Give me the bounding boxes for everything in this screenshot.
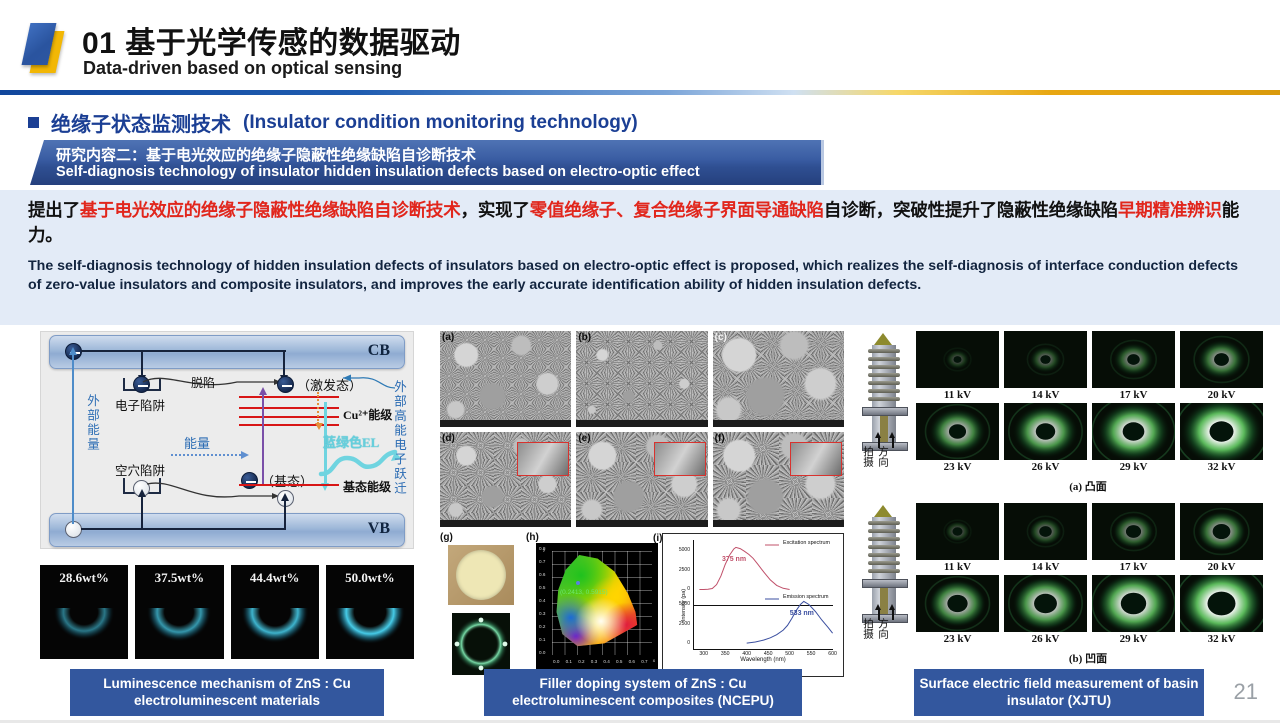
- hole-trap-curve-icon: [143, 472, 293, 504]
- spectrum-x-tick: 300: [699, 651, 708, 657]
- conduction-band-bar: CB: [49, 335, 405, 369]
- kv-voltage-label: 26 kV: [1004, 460, 1087, 475]
- kv-voltage-label: 11 kV: [916, 388, 999, 403]
- kv-voltage-label: 26 kV: [1004, 632, 1087, 647]
- ring-glow-icon: [1004, 331, 1087, 388]
- wt-sample-cell: 37.5wt%: [135, 565, 223, 659]
- banner-line-en: Self-diagnosis technology of insulator h…: [56, 164, 700, 180]
- spectrum-peak-label: 533 nm: [790, 610, 814, 617]
- spectrum-y-tick: 2500: [668, 621, 690, 627]
- wt-glow-arc: [135, 582, 223, 650]
- kv-measurement-cell: 14 kV: [1004, 503, 1087, 575]
- shed-a5: [868, 381, 900, 385]
- sem-tag: (b): [578, 332, 591, 343]
- kv-row: 23 kV26 kV29 kV32 kV: [916, 403, 1260, 475]
- slide-root: 01 基于光学传感的数据驱动 Data-driven based on opti…: [0, 0, 1280, 723]
- ring-glow-icon: [916, 575, 999, 632]
- mid-panel-caption: Filler doping system of ZnS : Cu electro…: [484, 669, 802, 716]
- cie-coordinate-label: (0.2413, 0.5915): [560, 589, 608, 596]
- research-topic-banner: 研究内容二：基于电光效应的绝缘子隐蔽性绝缘缺陷自诊断技术 Self-diagno…: [30, 140, 824, 185]
- spectrum-x-tick: 450: [764, 651, 773, 657]
- cie-plot-area: (0.2413, 0.5915): [552, 551, 652, 655]
- ring-glow-icon: [1004, 503, 1087, 560]
- ring-glow-icon: [1180, 503, 1263, 560]
- kv-measurement-cell: 29 kV: [1092, 403, 1175, 475]
- wt-sample-label: 50.0wt%: [326, 570, 414, 586]
- glowing-ring-photo: [452, 613, 510, 675]
- kv-voltage-label: 20 kV: [1180, 388, 1263, 403]
- shed-a2: [868, 357, 900, 361]
- sem-zoom-inset: [790, 442, 842, 476]
- external-energy-label: 外部能量: [83, 394, 102, 452]
- left-figure-panel: CB VB 电子陷阱: [26, 331, 430, 716]
- parallelogram-logo-icon: [22, 18, 74, 76]
- kv-measurement-cell: 11 kV: [916, 331, 999, 403]
- cie-y-tick: 0.3: [539, 611, 545, 616]
- cie-x-tick: 0.6: [629, 659, 635, 664]
- insulator-flange-b-top: [862, 579, 908, 588]
- spectrum-legend-entry: Excitation spectrum: [783, 540, 830, 546]
- kv-ring-image: [1004, 575, 1087, 632]
- sem-scale-bar: [576, 520, 707, 527]
- kv-measurement-cell: 29 kV: [1092, 575, 1175, 647]
- sample-disc: [456, 550, 506, 600]
- sem-image: (e): [576, 432, 707, 528]
- left-panel-caption: Luminescence mechanism of ZnS : Cu elect…: [70, 669, 384, 716]
- external-transition-curve-icon: [337, 366, 401, 394]
- ring-glow-icon: [1092, 503, 1175, 560]
- wt-sample-cell: 28.6wt%: [40, 565, 128, 659]
- insulator-tip-b: [874, 505, 892, 517]
- kv-voltage-label: 23 kV: [916, 460, 999, 475]
- ring-glow-icon: [916, 503, 999, 560]
- spectrum-curve: [747, 601, 833, 643]
- kv-measurement-cell: 17 kV: [1092, 331, 1175, 403]
- valence-band-bar: VB: [49, 513, 405, 547]
- spectrum-chart: Intensity (pa) Wavelength (nm) 025005000…: [667, 538, 837, 672]
- shed-a7: [868, 397, 900, 401]
- ring-glow-icon: [1180, 331, 1263, 388]
- ring-glow-icon: [916, 403, 999, 460]
- energy-label: 能量: [184, 433, 210, 452]
- kv-ring-image: [1092, 403, 1175, 460]
- page-title: 01 基于光学传感的数据驱动: [82, 18, 461, 62]
- kv-measurement-cell: 20 kV: [1180, 331, 1263, 403]
- kv-voltage-label: 17 kV: [1092, 560, 1175, 575]
- kv-ring-image: [1180, 331, 1263, 388]
- cie-y-tick: 0.0: [539, 650, 545, 655]
- sem-image: (f): [713, 432, 844, 528]
- spectrum-x-tick: 500: [785, 651, 794, 657]
- cie-y-tick: 0.1: [539, 637, 545, 642]
- header-divider: [0, 90, 1280, 95]
- shed-b1: [868, 521, 900, 525]
- kv-voltage-label: 29 kV: [1092, 632, 1175, 647]
- kv-row: 11 kV14 kV17 kV20 kV: [916, 331, 1260, 403]
- shed-b6: [868, 561, 900, 565]
- kv-ring-image: [1004, 403, 1087, 460]
- kv-voltage-label: 23 kV: [916, 632, 999, 647]
- cb-label: CB: [368, 342, 390, 360]
- kv-measurement-cell: 32 kV: [1180, 403, 1263, 475]
- kv-ring-image: [1092, 503, 1175, 560]
- sem-image: (a): [440, 331, 571, 427]
- shed-b4: [868, 545, 900, 549]
- cie-x-tick: 0.3: [591, 659, 597, 664]
- kv-measurement-cell: 26 kV: [1004, 403, 1087, 475]
- spectrum-x-tick: 400: [742, 651, 751, 657]
- vb-wire: [81, 528, 286, 530]
- kv-ring-image: [1092, 331, 1175, 388]
- kv-voltage-label: 20 kV: [1180, 560, 1263, 575]
- shoot-dir-b-2: 方向: [877, 618, 888, 639]
- cie-diagram-group: (h) y x (0.2413, 0.5915) 0.00.10.20.30.4…: [526, 533, 660, 677]
- kv-measurement-cell: 26 kV: [1004, 575, 1087, 647]
- shoot-direction-label-b: 拍摄 方向: [862, 618, 912, 639]
- kv-measurement-cell: 23 kV: [916, 403, 999, 475]
- kv-voltage-label: 32 kV: [1180, 632, 1263, 647]
- ring-glow-icon: [1092, 403, 1175, 460]
- ring-glow-icon: [1004, 575, 1087, 632]
- kv-ring-image: [916, 503, 999, 560]
- cb-wire: [81, 350, 286, 352]
- cu-level-label: Cu²⁺能级: [343, 406, 392, 423]
- kv-ring-image: [916, 331, 999, 388]
- vb-to-recomb-arrow: [284, 500, 286, 530]
- basin-insulator-icon-a: 拍摄 方向: [860, 333, 912, 465]
- abstract-en: The self-diagnosis technology of hidden …: [28, 257, 1252, 296]
- kv-ring-image: [1004, 503, 1087, 560]
- convex-surface-group: 拍摄 方向 11 kV14 kV17 kV20 kV23 kV26 kV29 k…: [856, 331, 1260, 497]
- convex-sub-caption: (a) 凸面: [916, 478, 1260, 494]
- sem-zoom-inset: [654, 442, 706, 476]
- vb-to-hole-trap-arrow: [141, 496, 143, 530]
- kv-ring-image: [916, 575, 999, 632]
- sem-tag: (a): [442, 332, 454, 343]
- spectrum-y-tick: 5000: [668, 601, 690, 607]
- kv-row: 11 kV14 kV17 kV20 kV: [916, 503, 1260, 575]
- panel-g-tag: (g): [440, 532, 453, 543]
- abstract-cn-segment-1: 基于电光效应的绝缘子隐蔽性绝缘缺陷自诊断技术: [80, 200, 461, 220]
- sem-image: (b): [576, 331, 707, 427]
- spectrum-x-tick: 550: [807, 651, 816, 657]
- abstract-cn-segment-4: 自诊断，突破性提升了隐蔽性绝缘缺陷: [824, 200, 1118, 220]
- abstract-cn: 提出了基于电光效应的绝缘子隐蔽性绝缘缺陷自诊断技术，实现了零值绝缘子、复合绝缘子…: [28, 198, 1252, 248]
- cie-y-tick: 0.2: [539, 624, 545, 629]
- panel-i-tag: (i): [653, 533, 662, 544]
- kv-measurement-cell: 23 kV: [916, 575, 999, 647]
- abstract-cn-segment-5: 早期精准辨识: [1118, 200, 1222, 220]
- shed-a3: [868, 365, 900, 369]
- spectrum-curve: [699, 547, 789, 589]
- kv-measurement-cell: 17 kV: [1092, 503, 1175, 575]
- abstract-cn-segment-2: ，实现了: [461, 200, 530, 220]
- sample-photo-group: (g): [440, 533, 522, 677]
- band-diagram: CB VB 电子陷阱: [40, 331, 414, 549]
- cie-x-tick: 0.4: [603, 659, 609, 664]
- slide-header: 01 基于光学传感的数据驱动 Data-driven based on opti…: [0, 0, 1280, 92]
- sample-disc-photo: [448, 545, 514, 605]
- ring-glow-icon: [916, 331, 999, 388]
- kv-ring-image: [1180, 503, 1263, 560]
- kv-voltage-label: 17 kV: [1092, 388, 1175, 403]
- cie-y-tick: 0.7: [539, 559, 545, 564]
- sem-tag: (c): [715, 332, 727, 343]
- page-subtitle: Data-driven based on optical sensing: [83, 58, 402, 79]
- shed-b7: [868, 569, 900, 573]
- cie-x-tick: 0.7: [641, 659, 647, 664]
- kv-ring-image: [916, 403, 999, 460]
- kv-grid-convex: 11 kV14 kV17 kV20 kV23 kV26 kV29 kV32 kV: [916, 331, 1260, 475]
- kv-measurement-cell: 14 kV: [1004, 331, 1087, 403]
- right-panel-caption: Surface electric field measurement of ba…: [914, 669, 1204, 716]
- kv-ring-image: [1180, 403, 1263, 460]
- external-transition-label: 外部高能电子跃迁: [390, 380, 409, 496]
- section-heading: 绝缘子状态监测技术 (Insulator condition monitorin…: [28, 108, 638, 137]
- mid-bottom-row: (g): [440, 531, 844, 679]
- spectrum-chart-group: (i) Intensity (pa) Wavelength (nm) 02500…: [662, 533, 844, 677]
- cie-y-tick: 0.4: [539, 598, 545, 603]
- kv-ring-image: [1092, 575, 1175, 632]
- cie-chromaticity-diagram: y x (0.2413, 0.5915) 0.00.10.20.30.40.50…: [536, 543, 658, 675]
- kv-measurement-cell: 32 kV: [1180, 575, 1263, 647]
- kv-measurement-cell: 20 kV: [1180, 503, 1263, 575]
- abstract-cn-segment-0: 提出了: [28, 200, 80, 220]
- spectrum-legend-entry: Emission spectrum: [783, 594, 829, 600]
- wt-glow-arc: [231, 582, 319, 650]
- panel-h-tag: (h): [526, 532, 539, 543]
- ground-level-label: 基态能级: [343, 478, 391, 495]
- sem-scale-bar: [440, 520, 571, 527]
- right-figure-panel: 拍摄 方向 11 kV14 kV17 kV20 kV23 kV26 kV29 k…: [856, 331, 1260, 716]
- abstract-panel: 提出了基于电光效应的绝缘子隐蔽性绝缘缺陷自诊断技术，实现了零值绝缘子、复合绝缘子…: [0, 190, 1280, 325]
- vb-label: VB: [368, 520, 390, 538]
- square-bullet-icon: [28, 117, 39, 128]
- page-number: 21: [1234, 679, 1258, 705]
- shoot-direction-label-a: 拍摄 方向: [862, 446, 912, 467]
- kv-measurement-cell: 11 kV: [916, 503, 999, 575]
- kv-voltage-label: 32 kV: [1180, 460, 1263, 475]
- kv-voltage-label: 14 kV: [1004, 388, 1087, 403]
- sem-image: (c): [713, 331, 844, 427]
- wt-sample-label: 28.6wt%: [40, 570, 128, 586]
- basin-insulator-icon-b: 拍摄 方向: [860, 505, 912, 637]
- shed-b2: [868, 529, 900, 533]
- detrap-curve-icon: [141, 370, 291, 396]
- middle-figure-panel: (a)(b)(c)(d)(e)(f) (g): [440, 331, 844, 716]
- ring-glow-icon: [1180, 403, 1263, 460]
- spectrum-x-tick: 350: [721, 651, 730, 657]
- energy-dotted-arrow: [171, 454, 241, 456]
- spectrum-y-tick: 5000: [668, 547, 690, 553]
- spectrum-y-tick: 0: [668, 586, 690, 592]
- section-title-en: (Insulator condition monitoring technolo…: [243, 112, 638, 134]
- shed-a4: [868, 373, 900, 377]
- electron-excited-state: [277, 376, 294, 393]
- spectrum-x-tick: 600: [828, 651, 837, 657]
- cie-y-tick: 0.8: [539, 546, 545, 551]
- shoot-dir-a-1: 拍摄: [862, 446, 873, 467]
- sem-scale-bar: [440, 420, 571, 427]
- banner-line-cn: 研究内容二：基于电光效应的绝缘子隐蔽性绝缘缺陷自诊断技术: [56, 144, 476, 165]
- cie-x-tick: 0.1: [566, 659, 572, 664]
- ring-glow-icon: [1180, 575, 1263, 632]
- sem-image: (d): [440, 432, 571, 528]
- electron-trap-label: 电子陷阱: [115, 395, 165, 414]
- sem-tag: (f): [715, 433, 725, 444]
- sem-tag: (e): [578, 433, 590, 444]
- orange-relax-arrow: [317, 392, 319, 424]
- cie-x-tick: 0.0: [553, 659, 559, 664]
- cie-y-tick: 0.5: [539, 585, 545, 590]
- cie-data-point: [576, 581, 580, 585]
- spectrum-xlabel: Wavelength (nm): [693, 657, 833, 663]
- spectrum-y-tick: 2500: [668, 567, 690, 573]
- wt-glow-arc: [326, 582, 414, 650]
- concave-surface-group: 拍摄 方向 11 kV14 kV17 kV20 kV23 kV26 kV29 k…: [856, 503, 1260, 669]
- cie-y-tick: 0.6: [539, 572, 545, 577]
- cu-level-1: [239, 396, 339, 398]
- kv-grid-concave: 11 kV14 kV17 kV20 kV23 kV26 kV29 kV32 kV: [916, 503, 1260, 647]
- shoot-dir-b-1: 拍摄: [862, 618, 873, 639]
- abstract-cn-segment-3: 零值绝缘子、复合绝缘子界面导通缺陷: [530, 200, 824, 220]
- sem-tag: (d): [442, 433, 455, 444]
- detrap-label: 脱陷: [191, 374, 215, 391]
- section-title-cn: 绝缘子状态监测技术: [51, 108, 231, 137]
- external-energy-arrow: [72, 354, 74, 524]
- shed-b5: [868, 553, 900, 557]
- kv-ring-image: [1004, 331, 1087, 388]
- wt-sample-label: 44.4wt%: [231, 570, 319, 586]
- ring-glow-icon: [1092, 331, 1175, 388]
- kv-voltage-label: 14 kV: [1004, 560, 1087, 575]
- ring-glow-icon: [1004, 403, 1087, 460]
- sem-scale-bar: [713, 520, 844, 527]
- spectrum-y-tick: 0: [668, 640, 690, 646]
- sem-scale-bar: [713, 420, 844, 427]
- wt-sample-row: 28.6wt%37.5wt%44.4wt%50.0wt%: [40, 565, 414, 659]
- insulator-flange-a-top: [862, 407, 908, 416]
- sem-image-grid: (a)(b)(c)(d)(e)(f): [440, 331, 844, 527]
- cie-x-tick: 0.5: [616, 659, 622, 664]
- shed-b3: [868, 537, 900, 541]
- sem-zoom-inset: [517, 442, 569, 476]
- wt-glow-arc: [40, 582, 128, 650]
- concave-sub-caption: (b) 凹面: [916, 650, 1260, 666]
- shed-a6: [868, 389, 900, 393]
- wt-sample-cell: 50.0wt%: [326, 565, 414, 659]
- spectrum-peak-label: 375 nm: [722, 556, 746, 563]
- figure-area: CB VB 电子陷阱: [0, 325, 1280, 723]
- sem-scale-bar: [576, 420, 707, 427]
- spectrum-x-axis: [693, 649, 833, 650]
- kv-voltage-label: 29 kV: [1092, 460, 1175, 475]
- shoot-dir-a-2: 方向: [877, 446, 888, 467]
- insulator-tip-a: [874, 333, 892, 345]
- kv-ring-image: [1180, 575, 1263, 632]
- wt-sample-label: 37.5wt%: [135, 570, 223, 586]
- wt-sample-cell: 44.4wt%: [231, 565, 319, 659]
- glow-ring-icon: [452, 613, 510, 675]
- kv-row: 23 kV26 kV29 kV32 kV: [916, 575, 1260, 647]
- shed-a1: [868, 349, 900, 353]
- cie-x-tick: 0.2: [578, 659, 584, 664]
- ring-glow-icon: [1092, 575, 1175, 632]
- cie-xlabel: x: [653, 658, 655, 663]
- kv-voltage-label: 11 kV: [916, 560, 999, 575]
